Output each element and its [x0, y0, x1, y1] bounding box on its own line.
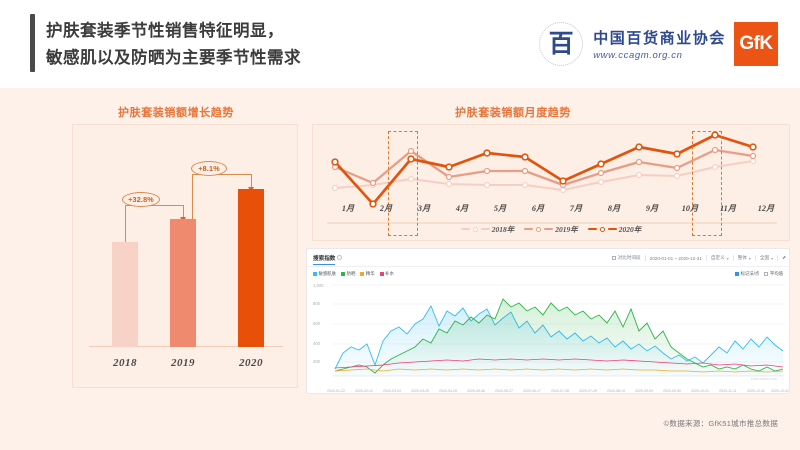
average-toggle[interactable]: 平均值	[764, 271, 783, 277]
highlight-box-march	[388, 131, 418, 236]
growth-callout-label-2: +8.1%	[198, 164, 220, 173]
bar-2018[interactable]	[112, 242, 138, 347]
dashboard-title: 搜索指数	[313, 254, 335, 262]
page-header: 护肤套装季节性销售特征明显， 敏感肌以及防晒为主要季节性需求 百 中国百货商业协…	[0, 0, 800, 88]
month-label-9: 9月	[639, 202, 665, 214]
toolbar-divider-4	[755, 255, 756, 261]
legend-item-2018[interactable]: 2018年	[461, 224, 515, 235]
custom-range-label: 自定义	[711, 255, 725, 261]
dashboard-ytick-200: 200	[313, 359, 320, 364]
legend-swatch-orange	[360, 272, 364, 276]
source-note: ©数据来源：GfK51城市推总数据	[664, 418, 778, 429]
month-label-4: 4月	[449, 202, 475, 214]
left-panel-title: 护肤套装销额增长趋势	[118, 104, 234, 120]
logo-group: 百 中国百货商业协会 www.ccagm.org.cn GfK	[537, 18, 778, 70]
legend-marker-2019	[536, 227, 541, 232]
bar-2020[interactable]	[238, 189, 264, 347]
page-title: 护肤套装季节性销售特征明显， 敏感肌以及防晒为主要季节性需求	[46, 18, 526, 71]
dashboard-series-svg	[307, 281, 790, 394]
title-accent-bar	[30, 14, 35, 72]
info-icon[interactable]	[337, 255, 342, 260]
dashboard-legend-label-4: 补水	[385, 271, 394, 277]
legend-marker-2018	[473, 227, 478, 232]
bar-label-2019: 2019	[153, 357, 213, 369]
month-label-12: 12月	[753, 202, 779, 214]
legend-swatch-2020	[588, 228, 597, 231]
date-range-selector[interactable]: 2020-01-01 ~ 2020-12-31	[650, 256, 702, 261]
compare-period-toggle[interactable]: 对比时间段	[612, 255, 641, 261]
growth-callout-2018-2019: +32.8%	[122, 192, 160, 207]
dashboard-legend-label-1: 敏感肌肤	[319, 271, 337, 277]
dashboard-legend-label-3: 精华	[366, 271, 375, 277]
legend-swatch-blue	[313, 272, 317, 276]
legend-label-2020: 2020年	[619, 224, 642, 235]
dashboard-legend-left: 敏感肌肤 防晒 精华 补水	[313, 269, 394, 279]
month-label-2: 2月	[373, 202, 399, 214]
dashboard-watermark: index.baidu.com	[751, 377, 777, 381]
dashboard-legend-right: 标记法/点 平均值	[735, 269, 783, 279]
month-label-10: 10月	[677, 202, 703, 214]
month-label-6: 6月	[525, 202, 551, 214]
right-panel-title: 护肤套装销额月度趋势	[455, 104, 571, 120]
baidu-index-dashboard: 搜索指数 对比时间段 2020-01-01 ~ 2020-12-31 自定义 ▾…	[306, 248, 790, 394]
legend-swatch-pink	[380, 272, 384, 276]
legend-swatch-2019-b	[544, 228, 553, 230]
average-toggle-label: 平均值	[770, 271, 783, 277]
legend-item-2019[interactable]: 2019年	[524, 224, 578, 235]
month-label-3: 3月	[411, 202, 437, 214]
month-axis: 1月 2月 3月 4月 5月 6月 7月 8月 9月 10月 11月 12月	[312, 202, 790, 218]
dashboard-legend-label-2: 防晒	[347, 271, 356, 277]
month-label-8: 8月	[601, 202, 627, 214]
growth-callout-2019-2020: +8.1%	[191, 161, 227, 176]
toolbar-divider-1	[645, 255, 646, 261]
marker-toggle[interactable]: 标记法/点	[735, 271, 759, 277]
legend-item-2020[interactable]: 2020年	[588, 224, 642, 235]
growth-bar-chart-card: +32.8% +8.1% 2018 2019 2020	[72, 124, 298, 388]
growth-callout-label-1: +32.8%	[128, 195, 154, 204]
checkbox-icon	[612, 256, 616, 260]
date-range-label: 2020-01-01 ~ 2020-12-31	[650, 256, 702, 261]
dashboard-ytick-600: 600	[313, 321, 320, 326]
legend-label-2019: 2019年	[555, 224, 578, 235]
dashboard-xtick-17: 2020-12-31	[763, 389, 790, 393]
gfk-logo: GfK	[734, 22, 778, 66]
legend-swatch-2020-b	[608, 228, 617, 231]
chevron-down-icon: ▾	[727, 256, 729, 261]
region-label: 全国	[760, 255, 769, 261]
month-label-11: 11月	[715, 202, 741, 214]
dashboard-legend-item-4[interactable]: 补水	[380, 271, 394, 277]
dashboard-ytick-800: 800	[313, 301, 320, 306]
bar-label-2020: 2020	[221, 357, 281, 369]
legend-swatch-2018	[461, 228, 470, 230]
month-label-1: 1月	[335, 202, 361, 214]
marker-toggle-label: 标记法/点	[741, 271, 760, 277]
ccagm-logo-text: 中国百货商业协会 www.ccagm.org.cn	[593, 27, 726, 61]
legend-marker-2020	[600, 227, 605, 232]
page-title-line-1: 护肤套装季节性销售特征明显，	[46, 18, 526, 45]
custom-range-dropdown[interactable]: 自定义 ▾	[711, 255, 729, 261]
dashboard-plot-area: 1,000 800 600 400 200	[307, 281, 790, 394]
ccagm-url: www.ccagm.org.cn	[593, 50, 726, 61]
legend-swatch-green	[341, 272, 345, 276]
toolbar-divider-5	[777, 255, 778, 261]
dashboard-legend-item-2[interactable]: 防晒	[341, 271, 355, 277]
chevron-down-icon-2: ▾	[749, 256, 751, 261]
bar-label-2018: 2018	[95, 357, 155, 369]
dashboard-toolbar: 对比时间段 2020-01-01 ~ 2020-12-31 自定义 ▾ 整体 ▾…	[612, 249, 786, 267]
monthly-chart-legend: 2018年 2019年 2020年	[312, 222, 790, 236]
bar-2019[interactable]	[170, 219, 196, 347]
dashboard-title-underline	[313, 264, 335, 265]
legend-swatch-2018-b	[481, 228, 490, 230]
bar-plot-area: +32.8% +8.1% 2018 2019 2020	[73, 125, 299, 389]
month-label-7: 7月	[563, 202, 589, 214]
checkbox-checked-icon	[735, 272, 739, 276]
month-label-5: 5月	[487, 202, 513, 214]
compare-period-label: 对比时间段	[618, 255, 641, 261]
device-label: 整体	[738, 255, 747, 261]
page-title-line-2: 敏感肌以及防晒为主要季节性需求	[46, 45, 526, 72]
region-dropdown[interactable]: 全国 ▾	[760, 255, 773, 261]
dashboard-ytick-1000: 1,000	[313, 283, 323, 288]
legend-label-2018: 2018年	[492, 224, 515, 235]
toolbar-divider-3	[733, 255, 734, 261]
export-icon[interactable]: ⬈	[782, 255, 786, 261]
toolbar-divider-2	[706, 255, 707, 261]
dashboard-ytick-400: 400	[313, 341, 320, 346]
checkbox-unchecked-icon	[764, 272, 768, 276]
ccagm-glyph: 百	[537, 20, 585, 68]
chevron-down-icon-3: ▾	[771, 256, 773, 261]
dashboard-legend-item-3[interactable]: 精华	[360, 271, 374, 277]
dashboard-legend-item-1[interactable]: 敏感肌肤	[313, 271, 336, 277]
dashboard-header: 搜索指数 对比时间段 2020-01-01 ~ 2020-12-31 自定义 ▾…	[307, 249, 790, 267]
legend-swatch-2019	[524, 228, 533, 230]
device-dropdown[interactable]: 整体 ▾	[738, 255, 751, 261]
ccagm-logo-mark: 百	[537, 20, 585, 68]
highlight-box-november	[692, 131, 722, 236]
ccagm-name: 中国百货商业协会	[593, 27, 726, 48]
